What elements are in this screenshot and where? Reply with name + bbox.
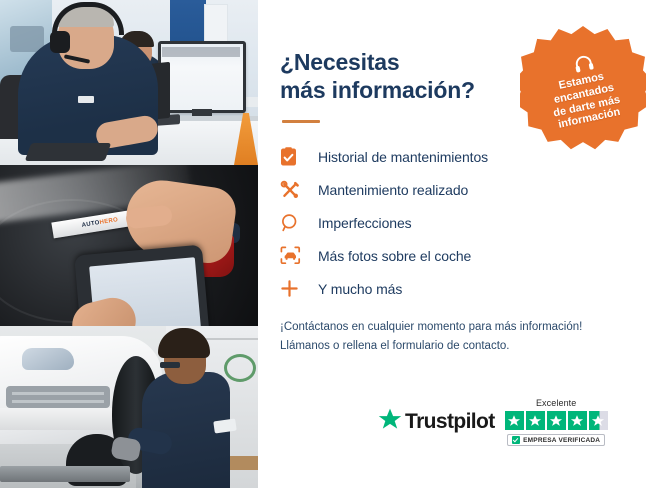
clipboard-check-icon — [280, 147, 306, 167]
car-focus-icon — [280, 246, 306, 265]
inspection-ruler-photo: AUTOHERO — [0, 165, 258, 326]
star-1 — [505, 411, 524, 430]
page-title-line-1: ¿Necesitas — [280, 49, 399, 75]
list-item: Mantenimiento realizado — [280, 178, 632, 201]
ruler-brand-suffix: HERO — [99, 217, 118, 226]
content-panel: ¿Necesitas más información? Estamos enca… — [258, 0, 650, 488]
status-badge: Estamos encantados de darte más informac… — [520, 26, 646, 152]
magnifier-icon — [280, 213, 306, 233]
contact-line-2: Llámanos o rellena el formulario de cont… — [280, 337, 630, 356]
photo-column: AUTOHERO — [0, 0, 258, 488]
list-item-label: Más fotos sobre el coche — [306, 248, 471, 264]
contact-copy: ¡Contáctanos en cualquier momento para m… — [280, 318, 630, 356]
trustpilot-logo[interactable]: Trustpilot — [378, 408, 495, 436]
trustpilot-star-icon — [378, 408, 402, 436]
desktop-monitor — [158, 41, 246, 113]
page-title: ¿Necesitas más información? — [280, 48, 495, 104]
tools-icon — [280, 180, 306, 200]
star-rating — [505, 411, 608, 430]
feature-list: Historial de mantenimientos Mantenimient… — [280, 145, 632, 300]
list-item-label: Imperfecciones — [306, 215, 412, 231]
page-title-line-2: más información? — [280, 77, 475, 103]
verified-label: EMPRESA VERIFICADA — [523, 437, 600, 444]
rating-label: Excelente — [536, 398, 576, 408]
list-item: Y mucho más — [280, 277, 632, 300]
star-2 — [526, 411, 545, 430]
headset-icon — [572, 53, 595, 74]
trustpilot-rating[interactable]: Trustpilot Excelente — [378, 398, 608, 446]
contact-line-1: ¡Contáctanos en cualquier momento para m… — [280, 318, 630, 337]
ruler-brand-prefix: AUTO — [81, 220, 100, 229]
title-divider — [282, 120, 320, 123]
information-cta-card: AUTOHERO — [0, 0, 650, 488]
verified-check-icon — [512, 436, 520, 444]
call-centre-agents-photo — [0, 0, 258, 165]
list-item: Más fotos sobre el coche — [280, 244, 632, 267]
mechanic-wheel-photo — [0, 326, 258, 488]
list-item-label: Mantenimiento realizado — [306, 182, 468, 198]
plus-icon — [280, 279, 306, 298]
star-5-half — [589, 411, 608, 430]
star-3 — [547, 411, 566, 430]
list-item-label: Historial de mantenimientos — [306, 149, 488, 165]
verified-company-badge: EMPRESA VERIFICADA — [507, 434, 605, 446]
list-item-label: Y mucho más — [306, 281, 402, 297]
trustpilot-wordmark: Trustpilot — [405, 410, 495, 434]
list-item: Imperfecciones — [280, 211, 632, 234]
star-4 — [568, 411, 587, 430]
